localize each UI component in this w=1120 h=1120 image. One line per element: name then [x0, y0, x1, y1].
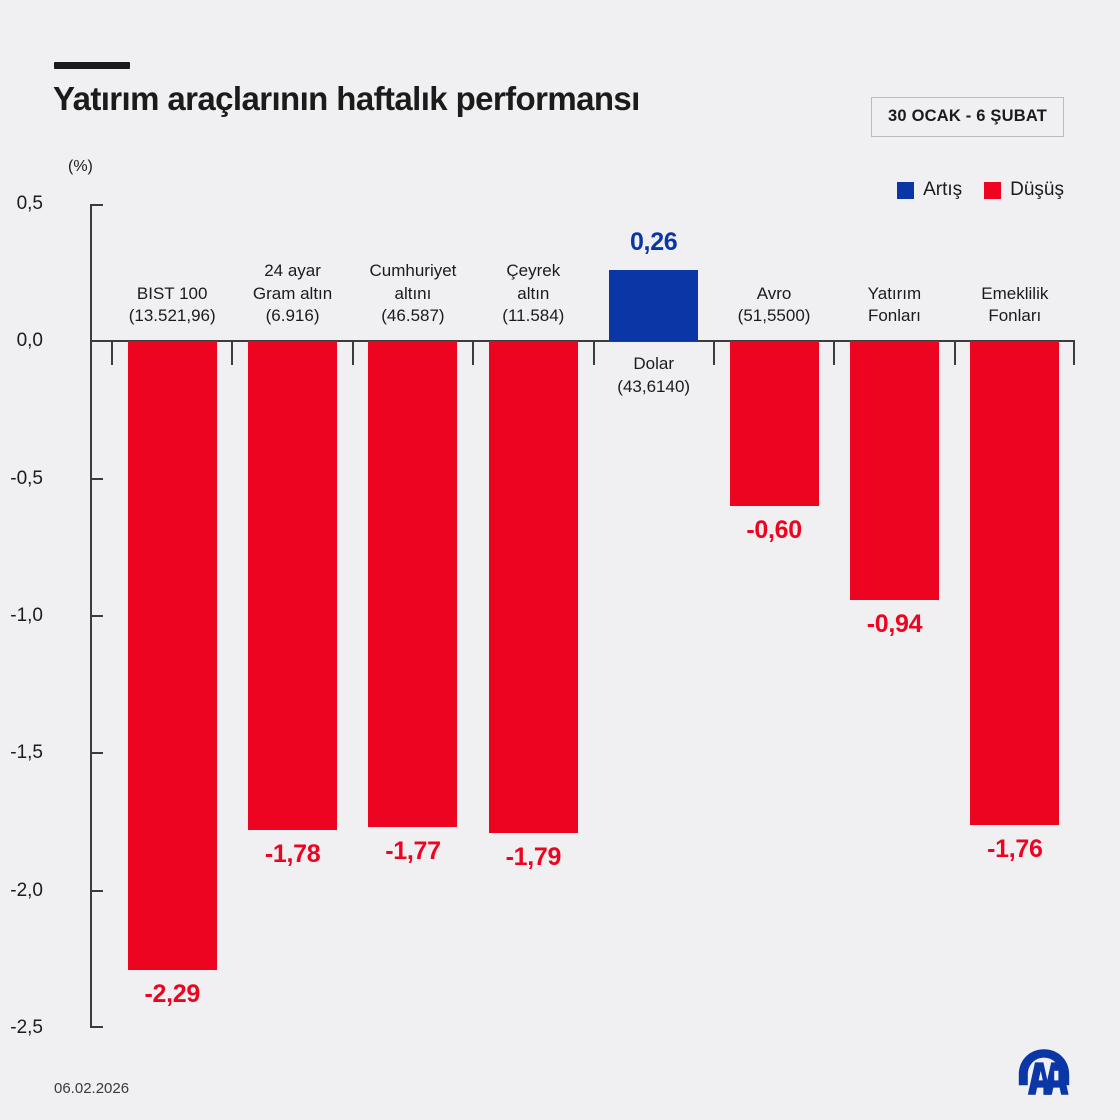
category-label-line: altın: [502, 283, 564, 305]
y-axis-tick-label: 0,0: [17, 330, 43, 352]
y-axis-tick: [90, 478, 103, 480]
blue-square-icon: [897, 182, 914, 199]
chart-legend: Artış Düşüş: [897, 179, 1064, 201]
category-label-line: Cumhuriyet: [369, 260, 456, 282]
category-label: EmeklilikFonları: [981, 283, 1048, 328]
chart-plot-area: 0,50,0-0,5-1,0-1,5-2,0-2,5 -2,29-1,78-1,…: [90, 204, 1075, 1028]
date-range-badge: 30 OCAK - 6 ŞUBAT: [871, 97, 1064, 137]
category-tick: [954, 341, 956, 365]
footer-date: 06.02.2026: [54, 1080, 129, 1097]
category-label-line: (43,6140): [617, 376, 690, 398]
bar-value-label: -1,77: [385, 837, 440, 866]
bar-value-label: -1,78: [265, 840, 320, 869]
bar[interactable]: [489, 341, 578, 833]
category-label: BIST 100(13.521,96): [129, 283, 216, 328]
bar[interactable]: [850, 341, 939, 599]
y-axis-tick-label: -1,5: [10, 742, 43, 764]
category-label-line: Avro: [738, 283, 811, 305]
y-axis-tick-label: -0,5: [10, 468, 43, 490]
category-tick: [593, 341, 595, 365]
category-label-line: BIST 100: [129, 283, 216, 305]
bar[interactable]: [730, 341, 819, 506]
bar[interactable]: [248, 341, 337, 830]
category-tick: [472, 341, 474, 365]
category-label: 24 ayarGram altın(6.916): [253, 260, 332, 327]
category-tick: [1073, 341, 1075, 365]
legend-label-artis: Artış: [923, 179, 962, 201]
category-label: Cumhuriyetaltını(46.587): [369, 260, 456, 327]
page-title: Yatırım araçlarının haftalık performansı: [53, 80, 640, 118]
category-label: Çeyrekaltın(11.584): [502, 260, 564, 327]
category-label-line: (13.521,96): [129, 305, 216, 327]
category-label-line: Yatırım: [868, 283, 922, 305]
y-axis-tick-label: -2,0: [10, 880, 43, 902]
category-tick: [713, 341, 715, 365]
bar-value-label: -1,76: [987, 835, 1042, 864]
bar-value-label: -1,79: [506, 843, 561, 872]
category-tick: [352, 341, 354, 365]
category-label-line: (51,5500): [738, 305, 811, 327]
legend-item-dusus: Düşüş: [984, 179, 1064, 201]
category-label-line: altını: [369, 283, 456, 305]
title-accent-rule: [54, 62, 130, 69]
category-label-line: 24 ayar: [253, 260, 332, 282]
category-tick: [111, 341, 113, 365]
category-label-line: Emeklilik: [981, 283, 1048, 305]
bar-value-label: -0,60: [746, 516, 801, 545]
red-square-icon: [984, 182, 1001, 199]
category-tick: [231, 341, 233, 365]
y-axis-unit-label: (%): [68, 158, 93, 176]
y-axis-tick: [90, 615, 103, 617]
bar-value-label: -2,29: [144, 980, 199, 1009]
category-label-line: (11.584): [502, 305, 564, 327]
legend-item-artis: Artış: [897, 179, 962, 201]
category-label-line: Dolar: [617, 353, 690, 375]
bar[interactable]: [970, 341, 1059, 824]
category-label-line: Fonları: [981, 305, 1048, 327]
bar[interactable]: [609, 270, 698, 341]
aa-logo-icon: [1014, 1042, 1074, 1102]
category-label-line: (6.916): [253, 305, 332, 327]
y-axis-tick: [90, 752, 103, 754]
bar-value-label: 0,26: [630, 228, 677, 257]
category-label: YatırımFonları: [868, 283, 922, 328]
category-label-line: (46.587): [369, 305, 456, 327]
y-axis-cap-top: [90, 204, 103, 206]
y-axis-cap-bottom: [90, 1026, 103, 1028]
y-axis-tick: [90, 890, 103, 892]
bar-value-label: -0,94: [867, 610, 922, 639]
y-axis-tick-label: 0,5: [17, 193, 43, 215]
y-axis-tick-label: -2,5: [10, 1017, 43, 1039]
category-label-line: Çeyrek: [502, 260, 564, 282]
category-tick: [833, 341, 835, 365]
bar[interactable]: [128, 341, 217, 970]
category-label: Avro(51,5500): [738, 283, 811, 328]
category-label-line: Gram altın: [253, 283, 332, 305]
legend-label-dusus: Düşüş: [1010, 179, 1064, 201]
bar[interactable]: [368, 341, 457, 827]
y-axis-tick-label: -1,0: [10, 605, 43, 627]
category-label: Dolar(43,6140): [617, 353, 690, 398]
category-label-line: Fonları: [868, 305, 922, 327]
